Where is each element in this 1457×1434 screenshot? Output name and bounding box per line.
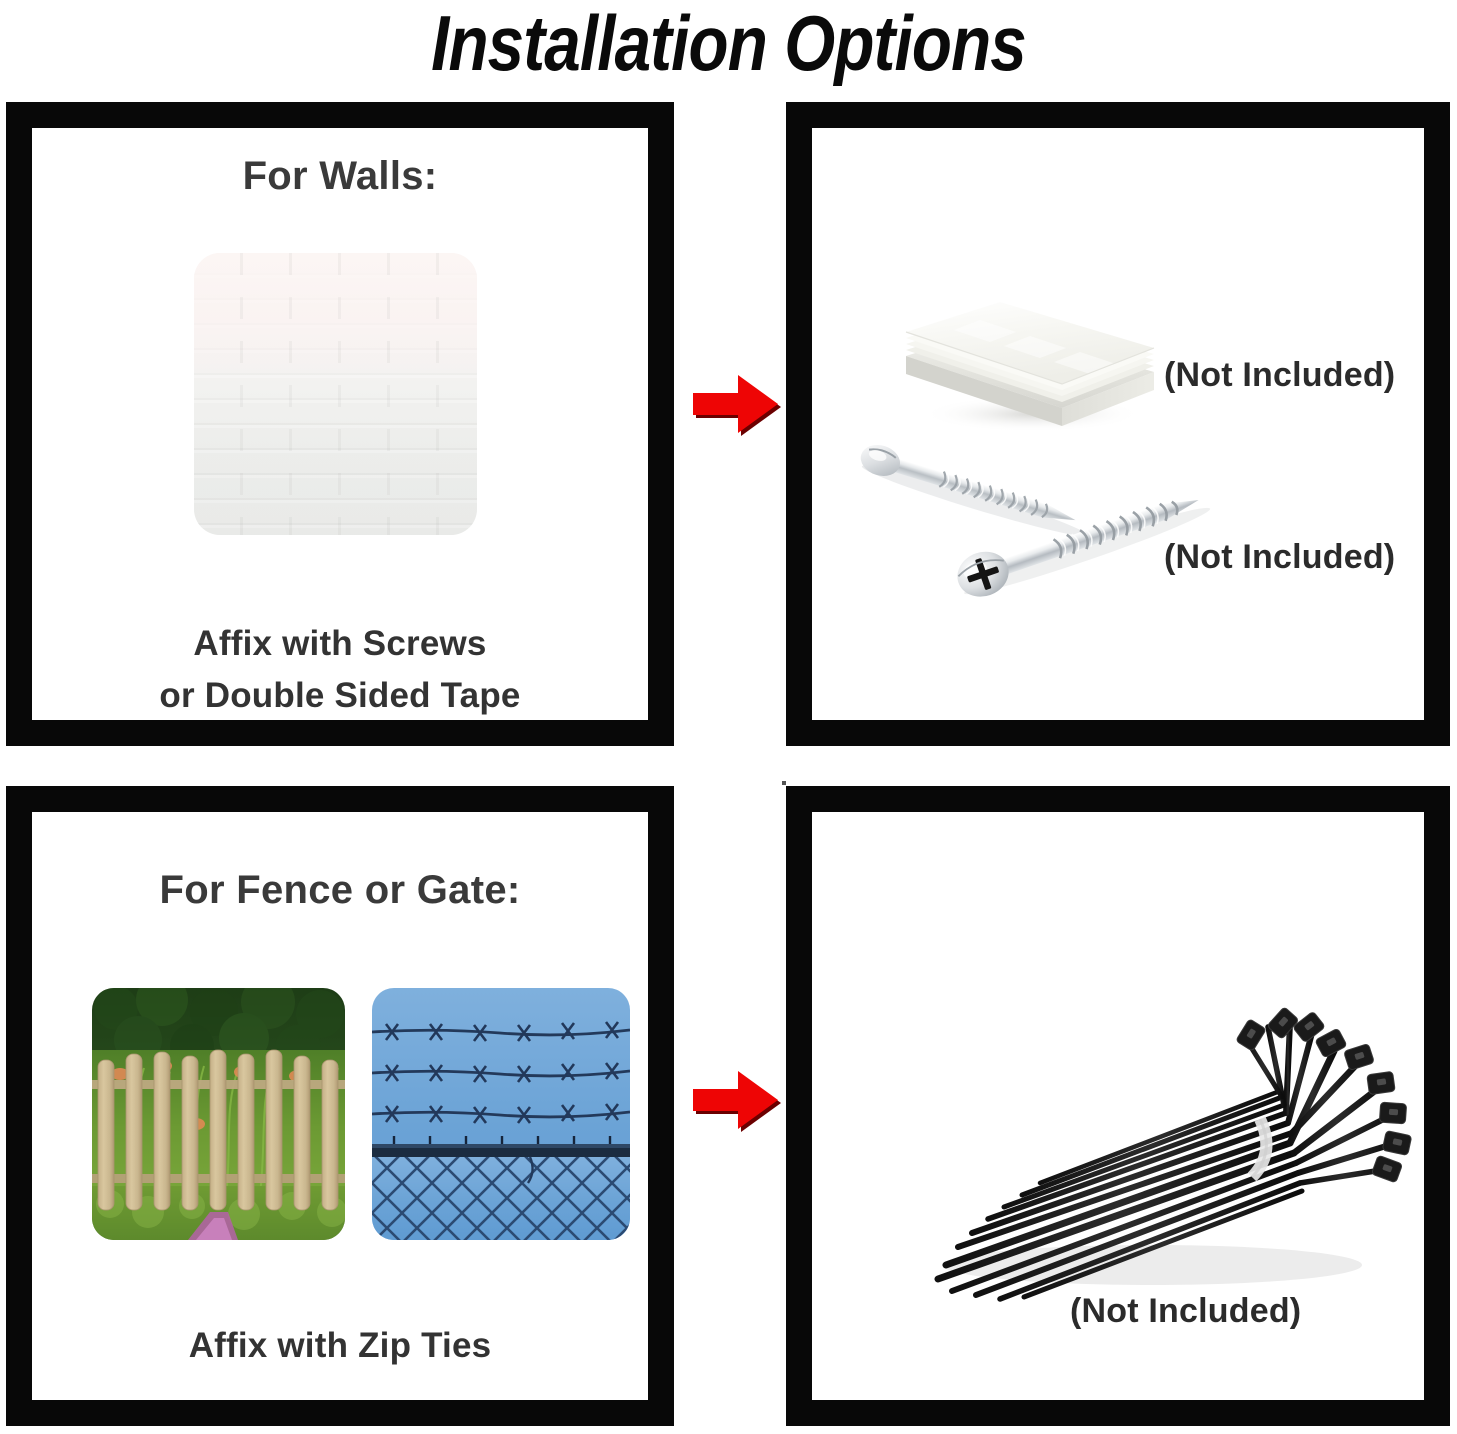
barbed-wire-chain-link-fence-image (372, 988, 630, 1240)
wooden-picket-fence-image (92, 988, 345, 1240)
caption-line-1: Affix with Screws (32, 618, 648, 670)
infographic-root: Installation Options For Walls: Affix wi… (0, 0, 1457, 1434)
caption-for-walls: Affix with Screws or Double Sided Tape (32, 618, 648, 720)
panel-zip-ties: (Not Included) (786, 786, 1450, 1426)
double-sided-tape-stack-image (892, 268, 1162, 438)
panel-for-fence-content: For Fence or Gate: (32, 812, 648, 1400)
heading-for-fence-or-gate: For Fence or Gate: (32, 868, 648, 913)
panel-for-walls-content: For Walls: Affix with Screws or Double S… (32, 128, 648, 720)
arrow-right-icon (686, 366, 782, 442)
arrow-right-icon (686, 1062, 782, 1138)
caption-for-fence: Affix with Zip Ties (32, 1320, 648, 1372)
brick-wash-overlay (194, 253, 477, 535)
artifact-dot (782, 781, 786, 785)
heading-for-walls: For Walls: (32, 154, 648, 199)
tape-stack-icon (892, 268, 1162, 438)
note-zip-ties-not-included: (Not Included) (1070, 1292, 1301, 1331)
red-arrow-right-icon (686, 1062, 782, 1138)
picket-fence-illustration (92, 988, 345, 1240)
zip-ties-icon (872, 947, 1412, 1317)
panel-zip-ties-content: (Not Included) (812, 812, 1424, 1400)
white-brick-wall-image (194, 253, 477, 535)
panel-for-walls: For Walls: Affix with Screws or Double S… (6, 102, 674, 746)
barbed-wire-illustration (372, 988, 630, 1240)
page-title: Installation Options (117, 0, 1341, 88)
caption-line-2: or Double Sided Tape (32, 670, 648, 720)
note-tape-not-included: (Not Included) (1164, 356, 1395, 395)
red-arrow-right-icon (686, 366, 782, 442)
black-zip-ties-bundle-image (872, 947, 1412, 1317)
panel-for-fence-or-gate: For Fence or Gate: (6, 786, 674, 1426)
panel-hardware-content: (Not Included) (812, 128, 1424, 720)
panel-hardware: (Not Included) (786, 102, 1450, 746)
note-screws-not-included: (Not Included) (1164, 538, 1395, 577)
